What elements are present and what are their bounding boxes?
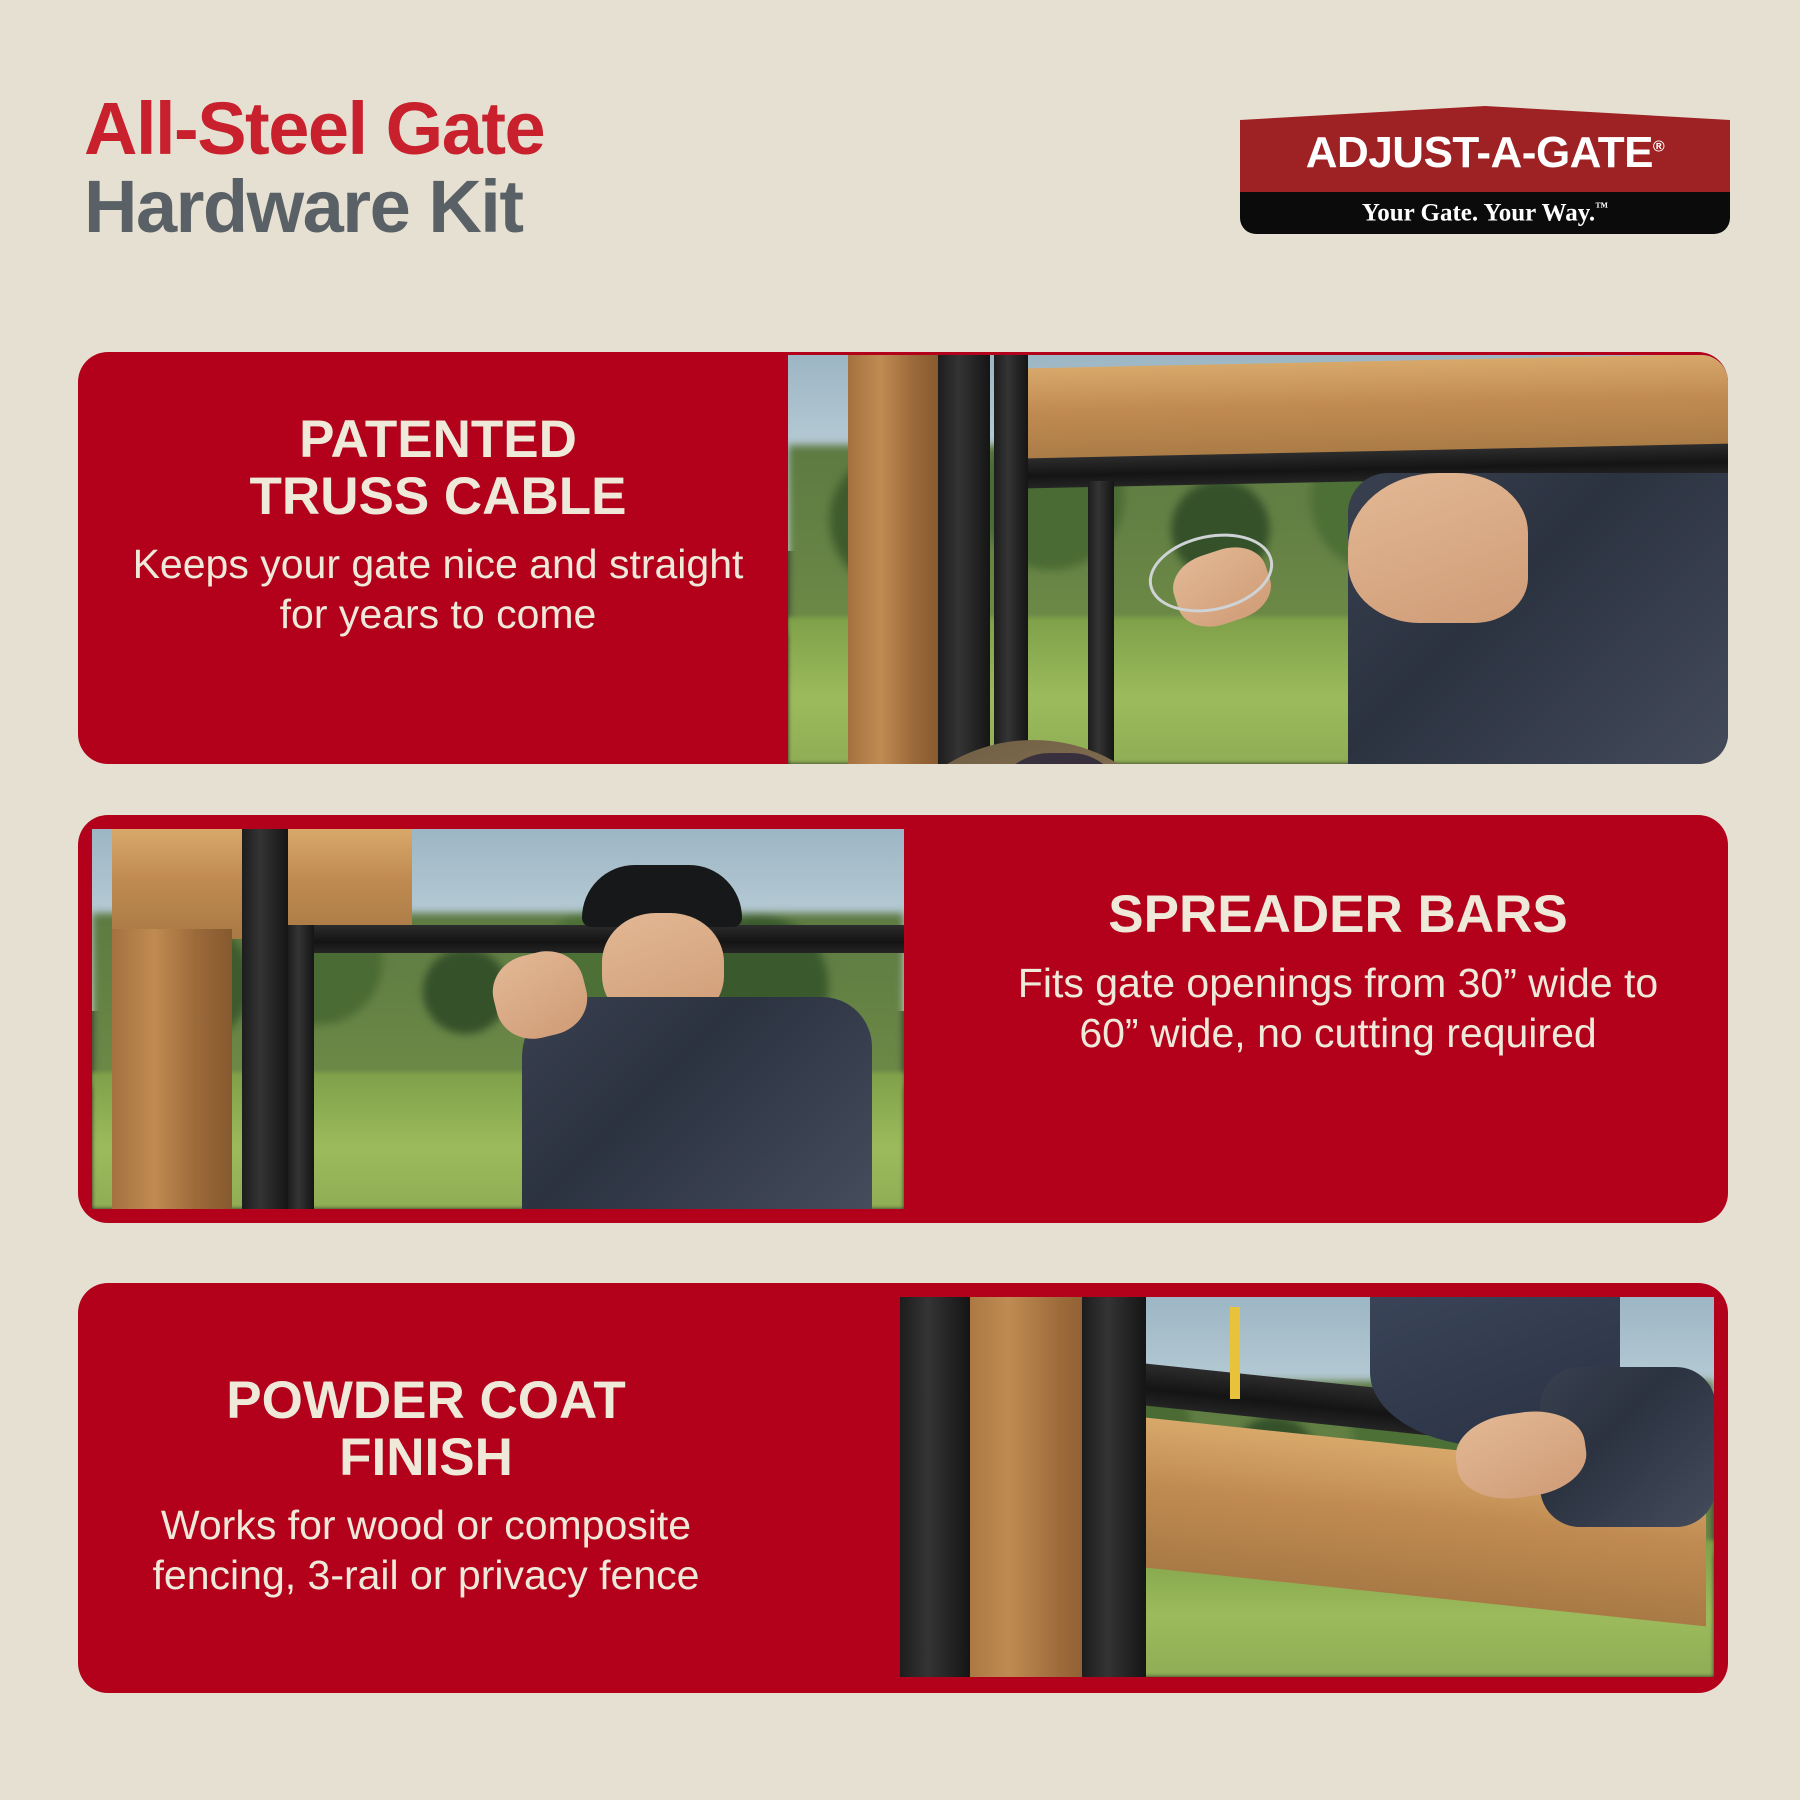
card-3-heading: POWDER COATFINISH [106, 1373, 746, 1486]
registered-trademark-icon: ® [1653, 138, 1664, 155]
feature-card-powder-coat-finish: POWDER COATFINISH Works for wood or comp… [78, 1283, 1728, 1693]
card-3-body: Works for wood or composite fencing, 3-r… [106, 1500, 746, 1600]
steel-upright-left [938, 355, 990, 764]
steel-upright [242, 829, 288, 1209]
logo-black-bar: Your Gate. Your Way.™ [1240, 192, 1730, 234]
page-title: All-Steel Gate Hardware Kit [84, 92, 544, 249]
feature-image-spreader-bars [92, 829, 904, 1209]
card-3-copy: POWDER COATFINISH Works for wood or comp… [106, 1373, 746, 1600]
worker-face [1348, 473, 1528, 623]
worker-shirt [522, 997, 872, 1209]
card-2-body: Fits gate openings from 30” wide to 60” … [1008, 958, 1668, 1058]
card-1-copy: PATENTEDTRUSS CABLE Keeps your gate nice… [118, 412, 758, 639]
feature-image-powder-coat [900, 1297, 1714, 1677]
inset-circle-truss-cable-closeup [868, 740, 1198, 764]
title-line-1: All-Steel Gate [84, 92, 544, 166]
steel-upright-left [900, 1297, 970, 1677]
steel-upright-inner [288, 925, 314, 1209]
screwdriver-shaft [1230, 1307, 1240, 1399]
logo-tagline: Your Gate. Your Way.™ [1362, 199, 1608, 227]
adjust-a-gate-logo: ADJUST-A-GATE® Your Gate. Your Way.™ [1240, 106, 1730, 234]
card-2-heading: SPREADER BARS [1008, 887, 1668, 944]
logo-red-banner: ADJUST-A-GATE® [1240, 106, 1730, 192]
feature-card-spreader-bars: SPREADER BARS Fits gate openings from 30… [78, 815, 1728, 1223]
trademark-icon: ™ [1595, 199, 1608, 214]
steel-upright-right [1082, 1297, 1146, 1677]
inset-jeans [980, 753, 1132, 764]
card-2-copy: SPREADER BARS Fits gate openings from 30… [1008, 887, 1668, 1058]
card-1-heading: PATENTEDTRUSS CABLE [118, 412, 758, 525]
steel-upright-inner [994, 355, 1028, 764]
feature-card-patented-truss-cable: PATENTEDTRUSS CABLE Keeps your gate nice… [78, 352, 1728, 764]
feature-image-truss-cable [788, 355, 1728, 764]
wood-post [112, 929, 232, 1209]
wood-post [848, 355, 940, 764]
logo-wordmark: ADJUST-A-GATE® [1306, 128, 1664, 178]
spreader-bar-horizontal [288, 925, 904, 953]
poster-root: All-Steel Gate Hardware Kit ADJUST-A-GAT… [0, 0, 1800, 1800]
steel-upright-right [1088, 481, 1114, 764]
inset-scene [868, 740, 1198, 764]
card-1-body: Keeps your gate nice and straight for ye… [118, 539, 758, 639]
title-line-2: Hardware Kit [84, 166, 544, 249]
